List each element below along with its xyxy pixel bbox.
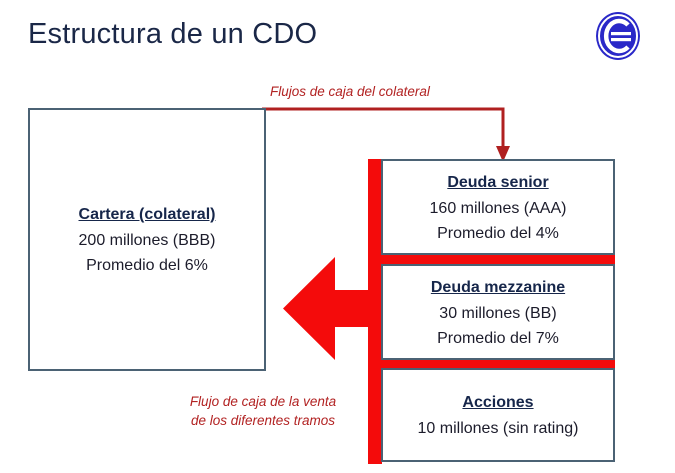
annotation-sale-cashflow-line2: de los diferentes tramos xyxy=(168,411,358,430)
collateral-box[interactable]: Cartera (colateral) 200 millones (BBB) P… xyxy=(28,108,266,371)
annotation-sale-cashflow-line1: Flujo de caja de la venta xyxy=(168,392,358,411)
tranche-heading-senior: Deuda senior xyxy=(430,169,567,196)
cashflow-collateral-arrow-icon xyxy=(258,100,510,166)
annotation-collateral-cashflow: Flujos de caja del colateral xyxy=(270,82,430,101)
cashflow-sale-arrow-icon xyxy=(283,257,383,360)
annotation-sale-cashflow: Flujo de caja de la venta de los diferen… xyxy=(168,392,358,430)
tranche-box-equity-text: Acciones 10 millones (sin rating) xyxy=(418,389,579,441)
collateral-box-text: Cartera (colateral) 200 millones (BBB) P… xyxy=(79,201,216,278)
tranche-amount-senior: 160 millones (AAA) xyxy=(430,196,567,221)
tranche-heading-equity: Acciones xyxy=(418,389,579,416)
tranche-box-senior-text: Deuda senior 160 millones (AAA) Promedio… xyxy=(430,169,567,246)
tranche-amount-equity: 10 millones (sin rating) xyxy=(418,416,579,441)
tranche-box-mezzanine-text: Deuda mezzanine 30 millones (BB) Promedi… xyxy=(431,274,565,351)
collateral-amount: 200 millones (BBB) xyxy=(79,228,216,253)
euro-circle-logo-icon xyxy=(594,11,642,61)
slide-canvas: Estructura de un CDO Flujos de caja del … xyxy=(0,0,675,473)
tranche-box-senior[interactable]: Deuda senior 160 millones (AAA) Promedio… xyxy=(381,159,615,255)
tranche-amount-mezzanine: 30 millones (BB) xyxy=(431,301,565,326)
tranche-yield-mezzanine: Promedio del 7% xyxy=(431,326,565,351)
tranche-yield-senior: Promedio del 4% xyxy=(430,221,567,246)
tranche-box-equity[interactable]: Acciones 10 millones (sin rating) xyxy=(381,368,615,462)
tranche-heading-mezzanine: Deuda mezzanine xyxy=(431,274,565,301)
page-title: Estructura de un CDO xyxy=(28,16,317,52)
collateral-heading: Cartera (colateral) xyxy=(79,201,216,228)
tranche-box-mezzanine[interactable]: Deuda mezzanine 30 millones (BB) Promedi… xyxy=(381,264,615,360)
collateral-yield: Promedio del 6% xyxy=(79,253,216,278)
